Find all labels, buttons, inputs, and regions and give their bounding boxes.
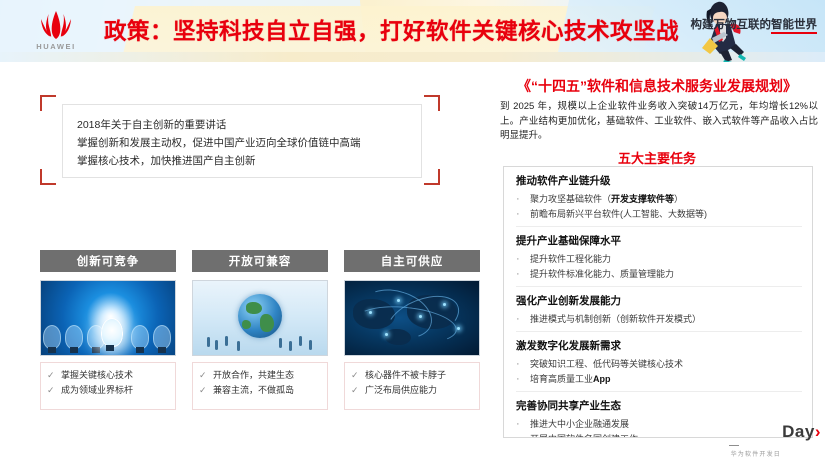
task-heading: 完善协同共享产业生态 [516,398,802,415]
tasks-heading: 五大主要任务 [492,148,822,167]
card-point-label: 成为领域业界标杆 [61,383,133,398]
plan-summary: 到 2025 年，规模以上企业软件业务收入突破14万亿元，年均增长12%以上。产… [500,100,818,144]
task-item: · 推进模式与机制创新（创新软件开发模式） [516,312,802,327]
watermark-logo: Day› [782,422,821,442]
watermark-arrow-icon: › [815,422,821,441]
bullet-icon: · [516,267,530,282]
task-item: · 提升软件工程化能力 [516,252,802,267]
bracket-corner-bottom-left [40,169,56,185]
pillar-card-list: 创新可竞争 ✓ 掌握关键核心技术 ✓ 成为领域业界标杆 开放可兼容 [40,250,480,410]
task-heading: 推动软件产业链升级 [516,173,802,190]
card-point: ✓ 成为领域业界标杆 [47,383,171,398]
huawei-wordmark: HUAWEI [20,42,92,51]
task-item: · 培育高质量工业App [516,372,802,387]
header-slogan: 构建万物互联的智能世界 [691,16,818,32]
card-point-label: 兼容主流，不做孤岛 [213,383,294,398]
slogan-highlight: 智能世界 [771,19,817,34]
task-item-label: 提升软件工程化能力 [530,252,611,267]
bullet-icon: · [516,372,530,387]
check-icon: ✓ [351,368,365,383]
bullet-icon: · [516,312,530,327]
task-item: · 推进大中小企业融通发展 [516,417,802,432]
huawei-flower-icon [36,9,76,41]
bracket-corner-top-left [40,95,56,111]
task-item: · 开展中国软件名园创建工作 [516,432,802,438]
card-title: 创新可竞争 [40,250,176,272]
globe-with-people-photo [192,280,328,356]
card-point: ✓ 核心器件不被卡脖子 [351,368,475,383]
pillar-card-supply[interactable]: 自主可供应 ✓ 核心器件不被卡脖子 ✓ 广泛布局供应能力 [344,250,480,410]
task-block: 推动软件产业链升级 · 聚力攻坚基础软件（开发支撑软件等） · 前瞻布局新兴平台… [516,173,802,226]
plan-title: 《“十四五”软件和信息技术服务业发展规划》 [492,76,822,96]
task-block: 强化产业创新发展能力 · 推进模式与机制创新（创新软件开发模式） [516,286,802,331]
bullet-icon: · [516,417,530,432]
card-point-label: 掌握关键核心技术 [61,368,133,383]
task-block: 完善协同共享产业生态 · 推进大中小企业融通发展 · 开展中国软件名园创建工作 [516,391,802,438]
card-points: ✓ 核心器件不被卡脖子 ✓ 广泛布局供应能力 [344,362,480,410]
check-icon: ✓ [199,368,213,383]
card-title: 开放可兼容 [192,250,328,272]
task-heading: 提升产业基础保障水平 [516,233,802,250]
card-point: ✓ 兼容主流，不做孤岛 [199,383,323,398]
task-item: · 前瞻布局新兴平台软件(人工智能、大数据等) [516,207,802,222]
quote-card: 2018年关于自主创新的重要讲话 掌握创新和发展主动权，促进中国产业迈向全球价值… [62,104,422,178]
task-block: 提升产业基础保障水平 · 提升软件工程化能力 · 提升软件标准化能力、质量管理能… [516,226,802,286]
bracket-corner-bottom-right [424,169,440,185]
pillar-card-innovation[interactable]: 创新可竞争 ✓ 掌握关键核心技术 ✓ 成为领域业界标杆 [40,250,176,410]
task-item: · 突破知识工程、低代码等关键核心技术 [516,357,802,372]
task-item-label: 推进大中小企业融通发展 [530,417,629,432]
card-point: ✓ 广泛布局供应能力 [351,383,475,398]
bullet-icon: · [516,357,530,372]
bullet-icon: · [516,252,530,267]
check-icon: ✓ [199,383,213,398]
quote-line: 掌握创新和发展主动权，促进中国产业迈向全球价值链中高端 [77,134,407,152]
tasks-card: 推动软件产业链升级 · 聚力攻坚基础软件（开发支撑软件等） · 前瞻布局新兴平台… [503,166,813,438]
bullet-icon: · [516,192,530,207]
task-heading: 激发数字化发展新需求 [516,338,802,355]
bullet-icon: · [516,432,530,438]
task-item-label: 开展中国软件名园创建工作 [530,432,638,438]
huawei-logo: HUAWEI [20,9,92,55]
task-item: · 聚力攻坚基础软件（开发支撑软件等） [516,192,802,207]
task-heading: 强化产业创新发展能力 [516,293,802,310]
task-item-label: 培育高质量工业App [530,372,611,387]
glowing-lightbulbs-photo [40,280,176,356]
watermark-dash [729,445,739,446]
card-points: ✓ 开放合作，共建生态 ✓ 兼容主流，不做孤岛 [192,362,328,410]
quote-bracket-frame: 2018年关于自主创新的重要讲话 掌握创新和发展主动权，促进中国产业迈向全球价值… [40,95,440,185]
task-item-label: 前瞻布局新兴平台软件(人工智能、大数据等) [530,207,707,222]
card-title: 自主可供应 [344,250,480,272]
task-item-label: 提升软件标准化能力、质量管理能力 [530,267,674,282]
page-header: HUAWEI 政策：坚持科技自立自强，打好软件关键核心技术攻坚战 构建万物互联的… [0,0,825,62]
slogan-prefix: 构建万物互联的 [691,19,772,31]
quote-line: 2018年关于自主创新的重要讲话 [77,116,407,134]
check-icon: ✓ [47,383,61,398]
quote-line: 掌握核心技术，加快推进国产自主创新 [77,152,407,170]
page-title: 政策：坚持科技自立自强，打好软件关键核心技术攻坚战 [104,14,679,46]
check-icon: ✓ [47,368,61,383]
task-item-label: 聚力攻坚基础软件（开发支撑软件等） [530,192,683,207]
watermark-subtitle: 华为软件开发日 [731,449,781,458]
card-point-label: 开放合作，共建生态 [213,368,294,383]
card-point: ✓ 掌握关键核心技术 [47,368,171,383]
bracket-corner-top-right [424,95,440,111]
watermark-text: Day [782,422,815,441]
task-block: 激发数字化发展新需求 · 突破知识工程、低代码等关键核心技术 · 培育高质量工业… [516,331,802,391]
task-item-label: 突破知识工程、低代码等关键核心技术 [530,357,683,372]
global-network-map-photo [344,280,480,356]
card-points: ✓ 掌握关键核心技术 ✓ 成为领域业界标杆 [40,362,176,410]
task-item-label: 推进模式与机制创新（创新软件开发模式） [530,312,701,327]
card-point: ✓ 开放合作，共建生态 [199,368,323,383]
task-item: · 提升软件标准化能力、质量管理能力 [516,267,802,282]
check-icon: ✓ [351,383,365,398]
card-point-label: 广泛布局供应能力 [365,383,437,398]
bullet-icon: · [516,207,530,222]
card-point-label: 核心器件不被卡脖子 [365,368,446,383]
pillar-card-openness[interactable]: 开放可兼容 ✓ 开放合作，共建生态 ✓ 兼容主流，不做孤 [192,250,328,410]
